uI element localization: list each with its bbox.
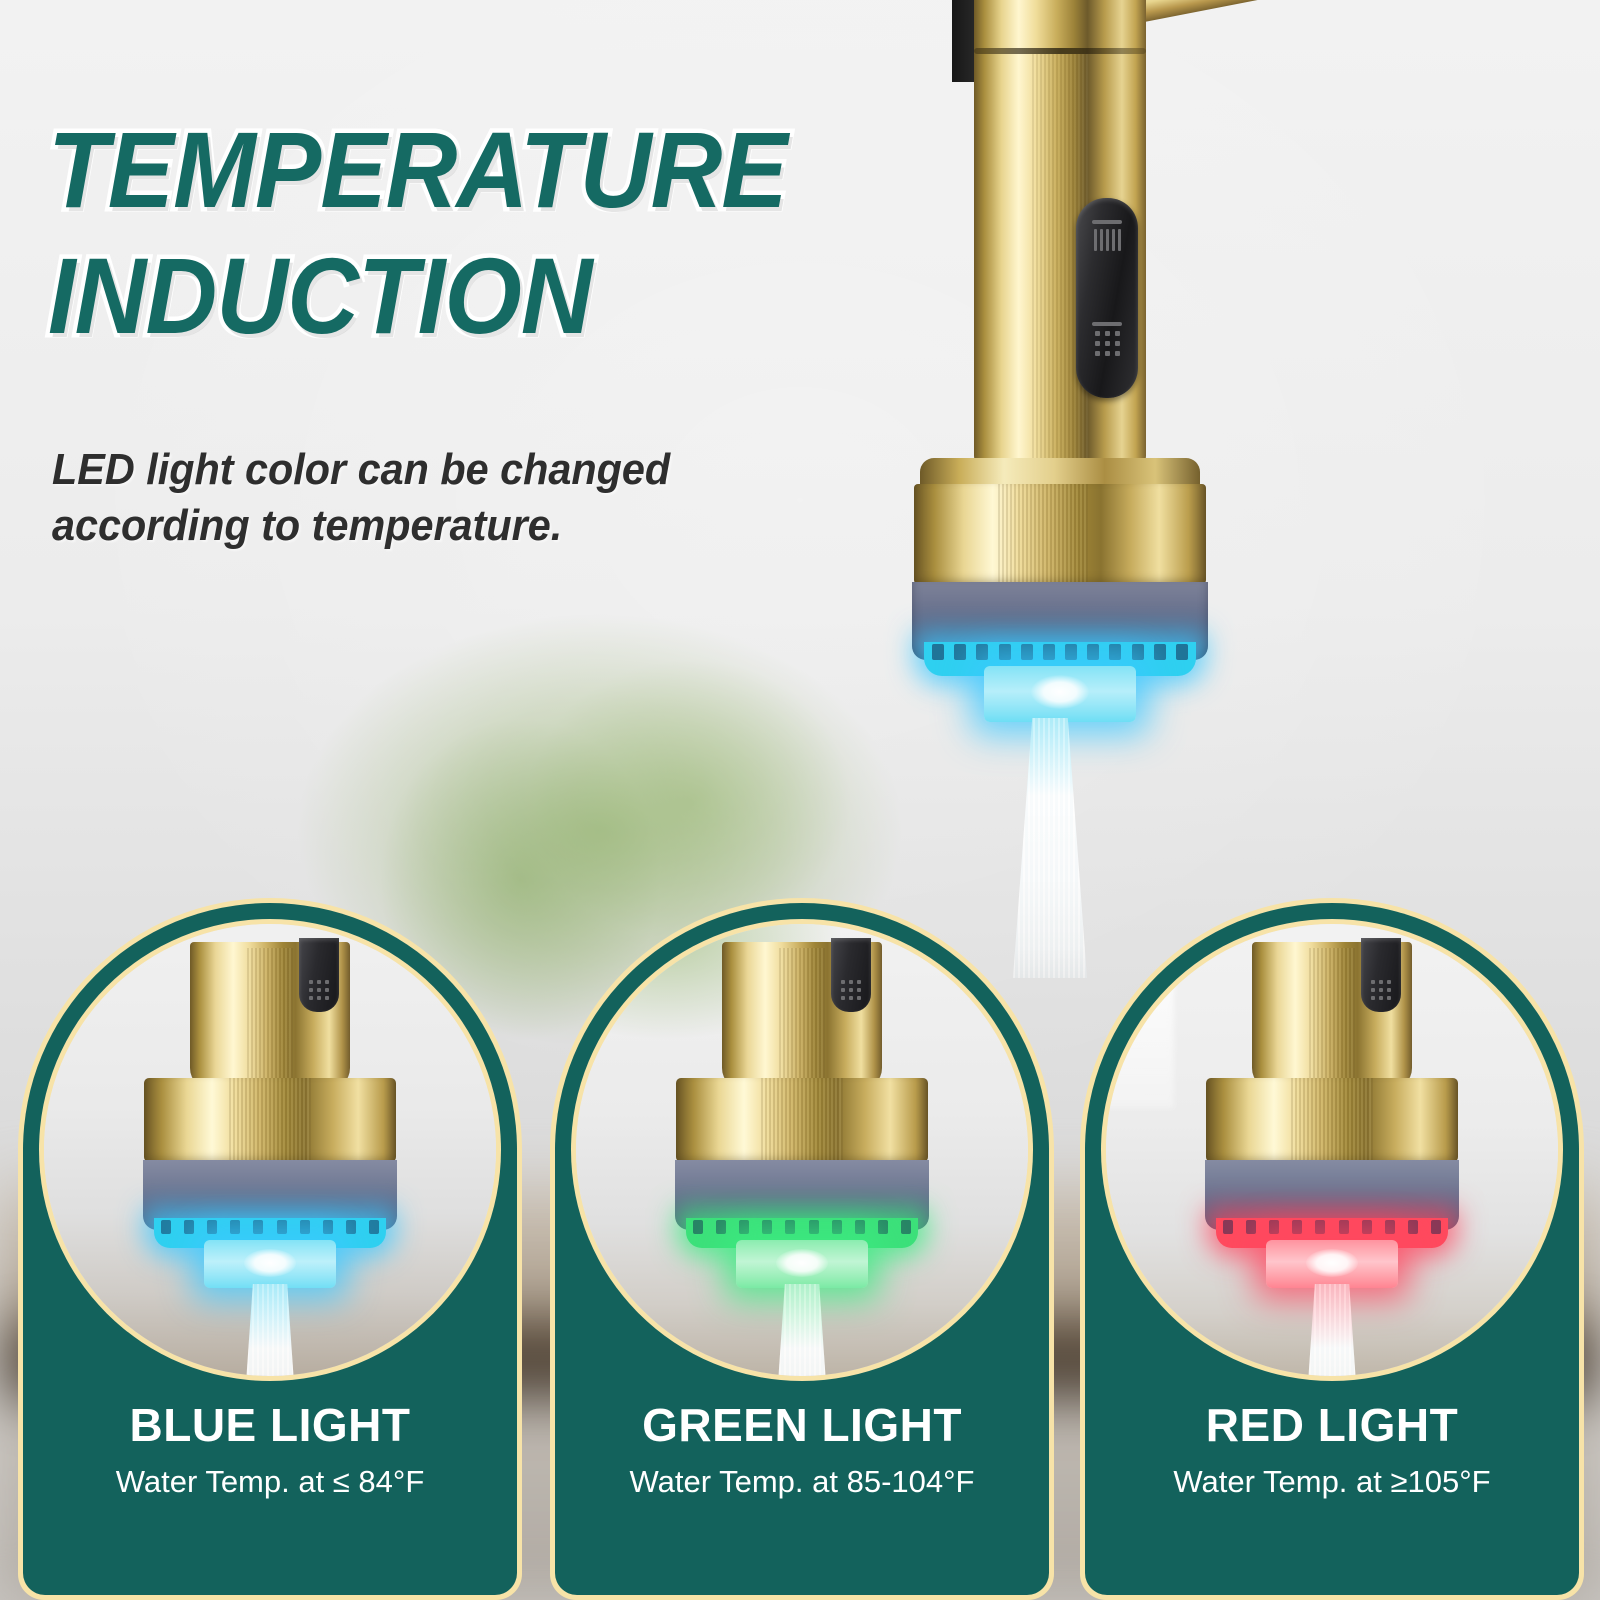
mini-led-bright-core <box>1306 1249 1358 1277</box>
mini-led-diffuser-teeth <box>1223 1220 1441 1238</box>
mini-faucet-brushed-band <box>247 948 293 1084</box>
panel-blue: BLUE LIGHT Water Temp. at ≤ 84°F <box>18 898 522 1600</box>
mini-spray-mode-icon <box>309 980 329 1000</box>
mini-head-brushed-band <box>229 1078 311 1162</box>
mini-faucet-brushed-band <box>1309 948 1355 1084</box>
panel-caption: RED LIGHT Water Temp. at ≥105°F <box>1080 1398 1584 1500</box>
panel-photo-window <box>44 924 496 1376</box>
mini-led-bright-core <box>776 1249 828 1277</box>
mini-spray-mode-toggle-button[interactable] <box>831 938 871 1012</box>
panel-red: RED LIGHT Water Temp. at ≥105°F <box>1080 898 1584 1600</box>
mini-led-bright-core <box>244 1249 296 1277</box>
feature-panels: BLUE LIGHT Water Temp. at ≤ 84°F <box>0 0 1600 1600</box>
panel-caption: GREEN LIGHT Water Temp. at 85-104°F <box>550 1398 1054 1500</box>
marketing-banner: TEMPERATURE INDUCTION LED light color ca… <box>0 0 1600 1600</box>
mini-spray-mode-toggle-button[interactable] <box>299 938 339 1012</box>
mini-head-brushed-band <box>1291 1078 1373 1162</box>
mini-led-diffuser-teeth <box>161 1220 379 1238</box>
panel-photo-window <box>1106 924 1558 1376</box>
panel-subtitle: Water Temp. at ≤ 84°F <box>18 1464 522 1500</box>
panel-subtitle: Water Temp. at ≥105°F <box>1080 1464 1584 1500</box>
mini-head-brushed-band <box>761 1078 843 1162</box>
mini-led-diffuser-teeth <box>693 1220 911 1238</box>
mini-spray-mode-icon <box>841 980 861 1000</box>
panel-subtitle: Water Temp. at 85-104°F <box>550 1464 1054 1500</box>
mini-faucet-brushed-band <box>779 948 825 1084</box>
mini-spray-mode-toggle-button[interactable] <box>1361 938 1401 1012</box>
background-water-stream <box>1106 924 1174 1108</box>
mini-led-nozzle <box>1266 1240 1398 1288</box>
panel-title: RED LIGHT <box>1080 1398 1584 1452</box>
panel-photo-window <box>576 924 1028 1376</box>
panel-title: BLUE LIGHT <box>18 1398 522 1452</box>
mini-spray-mode-icon <box>1371 980 1391 1000</box>
mini-led-nozzle <box>204 1240 336 1288</box>
mini-led-nozzle <box>736 1240 868 1288</box>
panel-caption: BLUE LIGHT Water Temp. at ≤ 84°F <box>18 1398 522 1500</box>
panel-title: GREEN LIGHT <box>550 1398 1054 1452</box>
panel-green: GREEN LIGHT Water Temp. at 85-104°F <box>550 898 1054 1600</box>
